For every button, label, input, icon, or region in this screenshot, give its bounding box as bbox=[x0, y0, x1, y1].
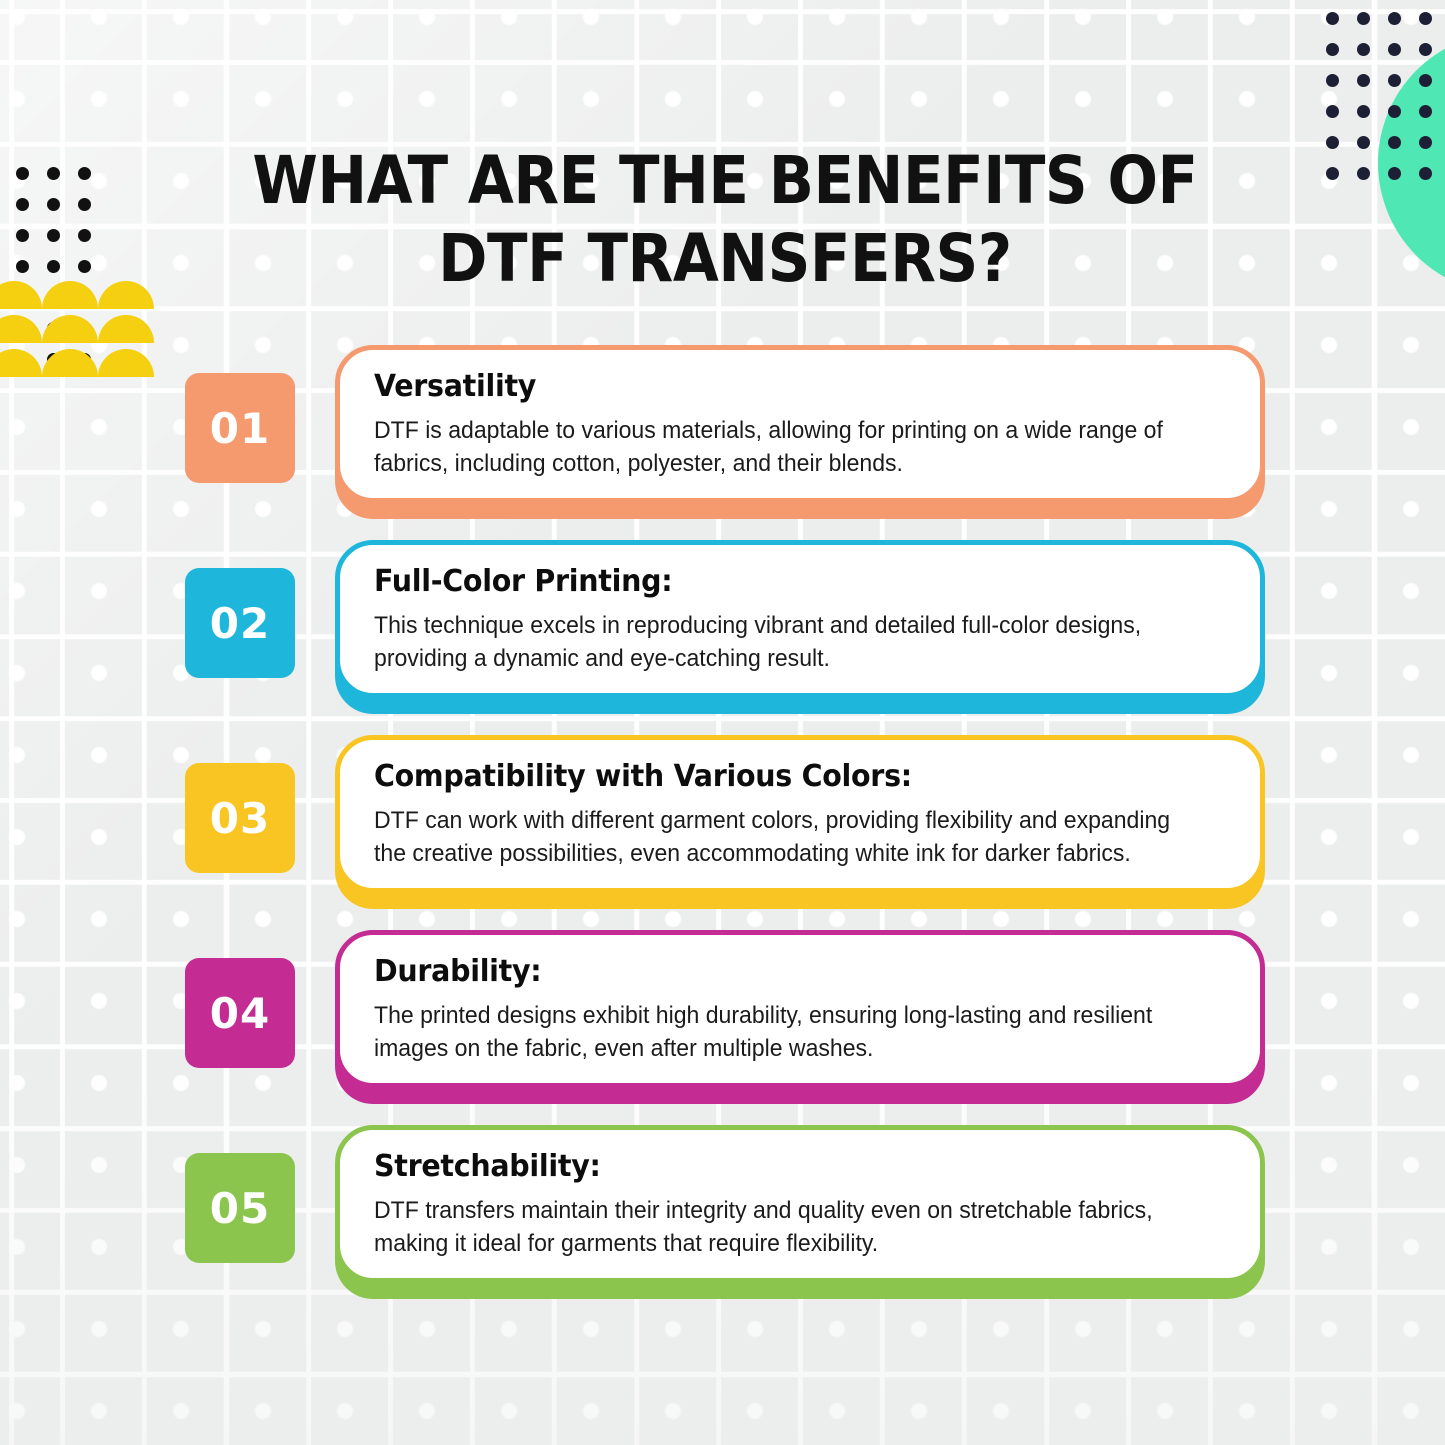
benefit-row: 01VersatilityDTF is adaptable to various… bbox=[185, 345, 1265, 540]
benefit-card: Compatibility with Various Colors:DTF ca… bbox=[335, 735, 1265, 893]
benefit-heading: Versatility bbox=[374, 366, 1183, 408]
benefit-row: 03Compatibility with Various Colors:DTF … bbox=[185, 735, 1265, 930]
benefit-body-text: DTF can work with different garment colo… bbox=[374, 804, 1192, 870]
benefit-card: Stretchability:DTF transfers maintain th… bbox=[335, 1125, 1265, 1283]
benefit-body-text: DTF is adaptable to various materials, a… bbox=[374, 414, 1192, 480]
benefit-card-wrapper: Full-Color Printing:This technique excel… bbox=[335, 540, 1265, 698]
benefit-card: VersatilityDTF is adaptable to various m… bbox=[335, 345, 1265, 503]
benefit-number: 02 bbox=[210, 599, 270, 648]
benefit-row: 05Stretchability:DTF transfers maintain … bbox=[185, 1125, 1265, 1320]
benefit-card-wrapper: Stretchability:DTF transfers maintain th… bbox=[335, 1125, 1265, 1283]
benefit-number-badge: 04 bbox=[185, 958, 295, 1068]
benefit-card-wrapper: VersatilityDTF is adaptable to various m… bbox=[335, 345, 1265, 503]
benefit-card: Full-Color Printing:This technique excel… bbox=[335, 540, 1265, 698]
benefit-row: 04Durability:The printed designs exhibit… bbox=[185, 930, 1265, 1125]
benefit-number: 04 bbox=[210, 989, 270, 1038]
benefit-heading: Full-Color Printing: bbox=[374, 561, 1183, 603]
benefit-number: 03 bbox=[210, 794, 270, 843]
benefit-heading: Stretchability: bbox=[374, 1146, 1183, 1188]
benefit-heading: Durability: bbox=[374, 951, 1183, 993]
benefit-body-text: This technique excels in reproducing vib… bbox=[374, 609, 1192, 675]
benefit-number: 05 bbox=[210, 1184, 270, 1233]
benefit-number-badge: 01 bbox=[185, 373, 295, 483]
benefit-body-text: The printed designs exhibit high durabil… bbox=[374, 999, 1192, 1065]
benefit-card-wrapper: Durability:The printed designs exhibit h… bbox=[335, 930, 1265, 1088]
infographic-canvas: WHAT ARE THE BENEFITS OF DTF TRANSFERS? … bbox=[0, 0, 1445, 1445]
benefit-number: 01 bbox=[210, 404, 270, 453]
benefit-number-badge: 02 bbox=[185, 568, 295, 678]
benefit-row: 02Full-Color Printing:This technique exc… bbox=[185, 540, 1265, 735]
benefit-card-wrapper: Compatibility with Various Colors:DTF ca… bbox=[335, 735, 1265, 893]
benefits-list: 01VersatilityDTF is adaptable to various… bbox=[185, 345, 1265, 1320]
benefit-card: Durability:The printed designs exhibit h… bbox=[335, 930, 1265, 1088]
benefit-number-badge: 03 bbox=[185, 763, 295, 873]
benefit-body-text: DTF transfers maintain their integrity a… bbox=[374, 1194, 1192, 1260]
page-title: WHAT ARE THE BENEFITS OF DTF TRANSFERS? bbox=[226, 142, 1225, 298]
benefit-heading: Compatibility with Various Colors: bbox=[374, 756, 1183, 798]
benefit-number-badge: 05 bbox=[185, 1153, 295, 1263]
